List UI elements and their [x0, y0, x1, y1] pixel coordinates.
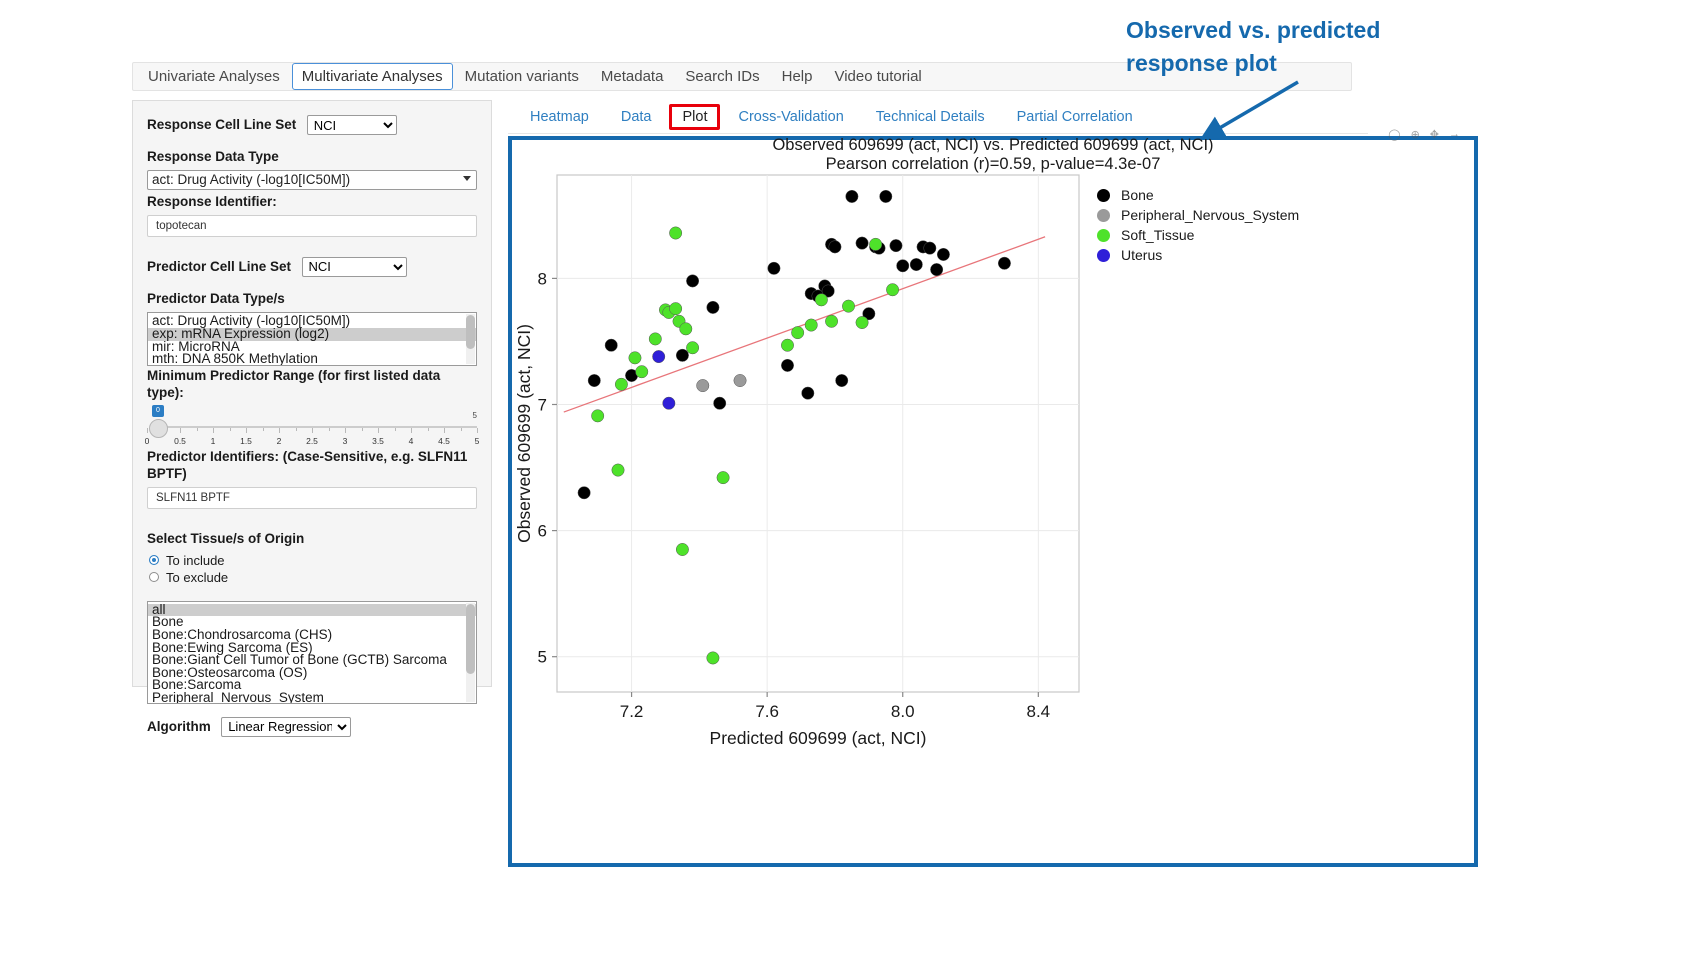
predictor-cell-line-set-row: Predictor Cell Line Set NCI	[147, 257, 477, 277]
tissue-option[interactable]: Peripheral_Nervous_System	[148, 692, 476, 704]
scatter-point[interactable]	[612, 464, 624, 476]
nav-tab-multivariate-analyses[interactable]: Multivariate Analyses	[292, 63, 453, 90]
slider-tick-minor	[296, 428, 297, 431]
x-tick-label: 7.2	[620, 702, 644, 721]
legend-item-peripheral_nervous_system[interactable]: Peripheral_Nervous_System	[1097, 205, 1377, 225]
tissue-mode-to-exclude[interactable]: To exclude	[149, 570, 477, 585]
plot-legend: BonePeripheral_Nervous_SystemSoft_Tissue…	[1097, 185, 1377, 265]
minimum-predictor-range-block: Minimum Predictor Range (for first liste…	[147, 368, 477, 445]
slider-tick-label: 2	[277, 436, 282, 446]
response-identifier-label: Response Identifier:	[147, 194, 477, 210]
slider-tick	[279, 428, 280, 433]
tissue-origin-label: Select Tissue/s of Origin	[147, 531, 477, 547]
algorithm-row: Algorithm Linear Regression	[147, 717, 477, 737]
scatter-point[interactable]	[649, 333, 661, 345]
y-tick-label: 5	[538, 648, 547, 667]
predictor-cell-line-set-select[interactable]: NCI	[302, 257, 407, 277]
scatter-point[interactable]	[588, 374, 600, 386]
scatter-point[interactable]	[880, 190, 892, 202]
nav-tab-univariate-analyses[interactable]: Univariate Analyses	[138, 63, 290, 90]
legend-marker-icon	[1097, 249, 1110, 262]
predictor-cell-line-set-label: Predictor Cell Line Set	[147, 259, 291, 275]
scatter-point[interactable]	[669, 227, 681, 239]
slider-tick-label: 5	[475, 436, 480, 446]
tissue-origin-block: Select Tissue/s of Origin To includeTo e…	[147, 531, 477, 584]
scatter-point[interactable]	[781, 359, 793, 371]
tissue-mode-label: To exclude	[166, 570, 228, 585]
scatter-point[interactable]	[825, 315, 837, 327]
scatter-point[interactable]	[781, 339, 793, 351]
listbox-scrollbar-thumb[interactable]	[466, 315, 475, 349]
scatter-point[interactable]	[836, 374, 848, 386]
scatter-point[interactable]	[930, 263, 942, 275]
nav-tab-video-tutorial[interactable]: Video tutorial	[824, 63, 931, 90]
scatter-point[interactable]	[815, 294, 827, 306]
tissue-origin-listbox[interactable]: allBoneBone:Chondrosarcoma (CHS)Bone:Ewi…	[147, 601, 477, 704]
response-identifier-input[interactable]	[147, 215, 477, 237]
plot-frame: ◯ ⊕ ✥ → Observed 609699 (act, NCI) vs. P…	[508, 136, 1478, 867]
scatter-point[interactable]	[897, 260, 909, 272]
y-axis-label: Observed 609699 (act, NCI)	[514, 324, 534, 543]
results-tab-cross-validation[interactable]: Cross-Validation	[724, 103, 857, 131]
slider-tick-minor	[461, 428, 462, 431]
scatter-point[interactable]	[578, 487, 590, 499]
slider-tick-minor	[263, 428, 264, 431]
nav-tab-metadata[interactable]: Metadata	[591, 63, 674, 90]
tissue-scrollbar-thumb[interactable]	[466, 604, 475, 674]
scatter-point[interactable]	[629, 352, 641, 364]
scatter-point[interactable]	[886, 284, 898, 296]
response-cell-line-set-row: Response Cell Line Set NCI	[147, 115, 477, 135]
scatter-point[interactable]	[605, 339, 617, 351]
slider-tick-label: 1.5	[240, 436, 252, 446]
scatter-point[interactable]	[890, 239, 902, 251]
slider-tick-label: 1	[211, 436, 216, 446]
algorithm-label: Algorithm	[147, 719, 211, 735]
scatter-point[interactable]	[805, 319, 817, 331]
slider-ticks	[147, 428, 477, 436]
scatter-point[interactable]	[829, 241, 841, 253]
slider-tick	[180, 428, 181, 433]
tissue-mode-to-include[interactable]: To include	[149, 553, 477, 568]
scatter-point[interactable]	[768, 262, 780, 274]
radio-icon[interactable]	[149, 555, 159, 565]
response-data-type-row: Response Data Type act: Drug Activity (-…	[147, 149, 477, 190]
response-cell-line-set-select[interactable]: NCI	[307, 115, 397, 135]
annotation-callout: Observed vs. predicted response plot	[1126, 14, 1506, 80]
algorithm-select[interactable]: Linear Regression	[221, 717, 351, 737]
predictor-identifiers-label: Predictor Identifiers: (Case-Sensitive, …	[147, 449, 477, 482]
scatter-point[interactable]	[615, 378, 627, 390]
legend-marker-icon	[1097, 189, 1110, 202]
legend-marker-icon	[1097, 229, 1110, 242]
minimum-predictor-range-slider[interactable]: 0 5 00.511.522.533.544.55	[147, 405, 477, 445]
analysis-settings-panel: Response Cell Line Set NCI Response Data…	[132, 100, 492, 687]
scatter-point[interactable]	[869, 238, 881, 250]
tissue-option[interactable]: all	[148, 604, 476, 617]
minimum-predictor-range-label: Minimum Predictor Range (for first liste…	[147, 368, 477, 401]
chevron-down-icon	[463, 176, 471, 181]
scatter-point[interactable]	[707, 652, 719, 664]
y-tick-label: 7	[538, 395, 547, 414]
scatter-point[interactable]	[686, 275, 698, 287]
response-cell-line-set-label: Response Cell Line Set	[147, 117, 296, 133]
scatter-point[interactable]	[998, 257, 1010, 269]
x-tick-label: 8.0	[891, 702, 915, 721]
response-data-type-label: Response Data Type	[147, 149, 477, 165]
scatter-point[interactable]	[591, 410, 603, 422]
slider-tick-label: 4.5	[438, 436, 450, 446]
tissue-listbox-wrap: allBoneBone:Chondrosarcoma (CHS)Bone:Ewi…	[147, 601, 477, 704]
legend-label: Soft_Tissue	[1121, 227, 1194, 243]
slider-tick	[378, 428, 379, 433]
x-tick-label: 8.4	[1027, 702, 1051, 721]
response-data-type-select[interactable]: act: Drug Activity (-log10[IC50M])	[147, 170, 477, 190]
radio-icon[interactable]	[149, 572, 159, 582]
slider-tick-label: 0.5	[174, 436, 186, 446]
scatter-point[interactable]	[636, 366, 648, 378]
legend-label: Uterus	[1121, 247, 1162, 263]
scatter-point[interactable]	[924, 242, 936, 254]
slider-tick-minor	[395, 428, 396, 431]
slider-tick	[312, 428, 313, 433]
scatter-point[interactable]	[697, 379, 709, 391]
results-tab-data[interactable]: Data	[607, 103, 666, 131]
slider-tick	[411, 428, 412, 433]
slider-tick-minor	[230, 428, 231, 431]
nav-tab-mutation-variants[interactable]: Mutation variants	[455, 63, 589, 90]
scatter-point[interactable]	[910, 258, 922, 270]
legend-item-bone[interactable]: Bone	[1097, 185, 1377, 205]
scatter-point[interactable]	[717, 471, 729, 483]
scatter-point[interactable]	[680, 323, 692, 335]
scatter-point[interactable]	[686, 342, 698, 354]
slider-tick-label: 4	[409, 436, 414, 446]
scatter-point[interactable]	[846, 190, 858, 202]
slider-tick-label: 0	[145, 436, 150, 446]
slider-tick-minor	[329, 428, 330, 431]
legend-label: Bone	[1121, 187, 1154, 203]
tissue-mode-radio-group[interactable]: To includeTo exclude	[147, 553, 477, 585]
response-identifier-row: Response Identifier:	[147, 194, 477, 236]
scatter-point[interactable]	[734, 374, 746, 386]
predictor-identifiers-row: Predictor Identifiers: (Case-Sensitive, …	[147, 449, 477, 509]
predictor-data-types-label: Predictor Data Type/s	[147, 291, 477, 307]
scatter-point[interactable]	[842, 300, 854, 312]
legend-label: Peripheral_Nervous_System	[1121, 207, 1299, 223]
nav-tab-help[interactable]: Help	[772, 63, 823, 90]
results-tab-heatmap[interactable]: Heatmap	[516, 103, 603, 131]
results-tab-technical-details[interactable]: Technical Details	[862, 103, 999, 131]
slider-tick	[147, 428, 148, 433]
slider-tick-label: 3.5	[372, 436, 384, 446]
y-tick-label: 8	[538, 269, 547, 288]
scatter-point[interactable]	[802, 387, 814, 399]
x-tick-label: 7.6	[755, 702, 779, 721]
slider-value-bubble: 0	[152, 405, 164, 417]
scatter-point[interactable]	[791, 326, 803, 338]
results-tab-plot[interactable]: Plot	[669, 104, 720, 130]
slider-tick	[246, 428, 247, 433]
x-axis-label: Predicted 609699 (act, NCI)	[710, 728, 927, 748]
scatter-point[interactable]	[856, 316, 868, 328]
legend-marker-icon	[1097, 209, 1110, 222]
legend-item-soft_tissue[interactable]: Soft_Tissue	[1097, 225, 1377, 245]
scatter-point[interactable]	[707, 301, 719, 313]
slider-tick-label: 2.5	[306, 436, 318, 446]
annotation-line-2: response plot	[1126, 47, 1506, 80]
predictor-data-type-option[interactable]: mth: DNA 850K Methylation	[148, 353, 476, 366]
scatter-point[interactable]	[669, 302, 681, 314]
tissue-mode-label: To include	[166, 553, 225, 568]
scatter-point[interactable]	[663, 397, 675, 409]
predictor-data-type-listbox[interactable]: act: Drug Activity (-log10[IC50M])exp: m…	[147, 312, 477, 366]
scatter-point[interactable]	[856, 237, 868, 249]
slider-tick-labels: 00.511.522.533.544.55	[147, 436, 477, 448]
scatter-point[interactable]	[676, 349, 688, 361]
predictor-identifiers-input[interactable]	[147, 487, 477, 509]
slider-tick-minor	[197, 428, 198, 431]
scatter-point[interactable]	[652, 350, 664, 362]
scatter-point[interactable]	[676, 543, 688, 555]
response-data-type-value: act: Drug Activity (-log10[IC50M])	[152, 172, 350, 187]
slider-tick	[345, 428, 346, 433]
legend-item-uterus[interactable]: Uterus	[1097, 245, 1377, 265]
scatter-point[interactable]	[714, 397, 726, 409]
slider-tick	[477, 428, 478, 433]
slider-tick-minor	[362, 428, 363, 431]
y-tick-label: 6	[538, 522, 547, 541]
slider-tick-label: 3	[343, 436, 348, 446]
predictor-data-types-row: Predictor Data Type/s act: Drug Activity…	[147, 291, 477, 366]
scatter-point[interactable]	[937, 248, 949, 260]
annotation-line-1: Observed vs. predicted	[1126, 14, 1506, 47]
results-tab-partial-correlation[interactable]: Partial Correlation	[1003, 103, 1147, 131]
annotation-arrow-icon	[1180, 78, 1310, 148]
slider-tick	[444, 428, 445, 433]
results-panel: HeatmapDataPlotCross-ValidationTechnical…	[508, 100, 1588, 134]
slider-max-label: 5	[473, 411, 477, 420]
nav-tab-search-ids[interactable]: Search IDs	[675, 63, 769, 90]
slider-tick	[213, 428, 214, 433]
slider-tick-minor	[428, 428, 429, 431]
